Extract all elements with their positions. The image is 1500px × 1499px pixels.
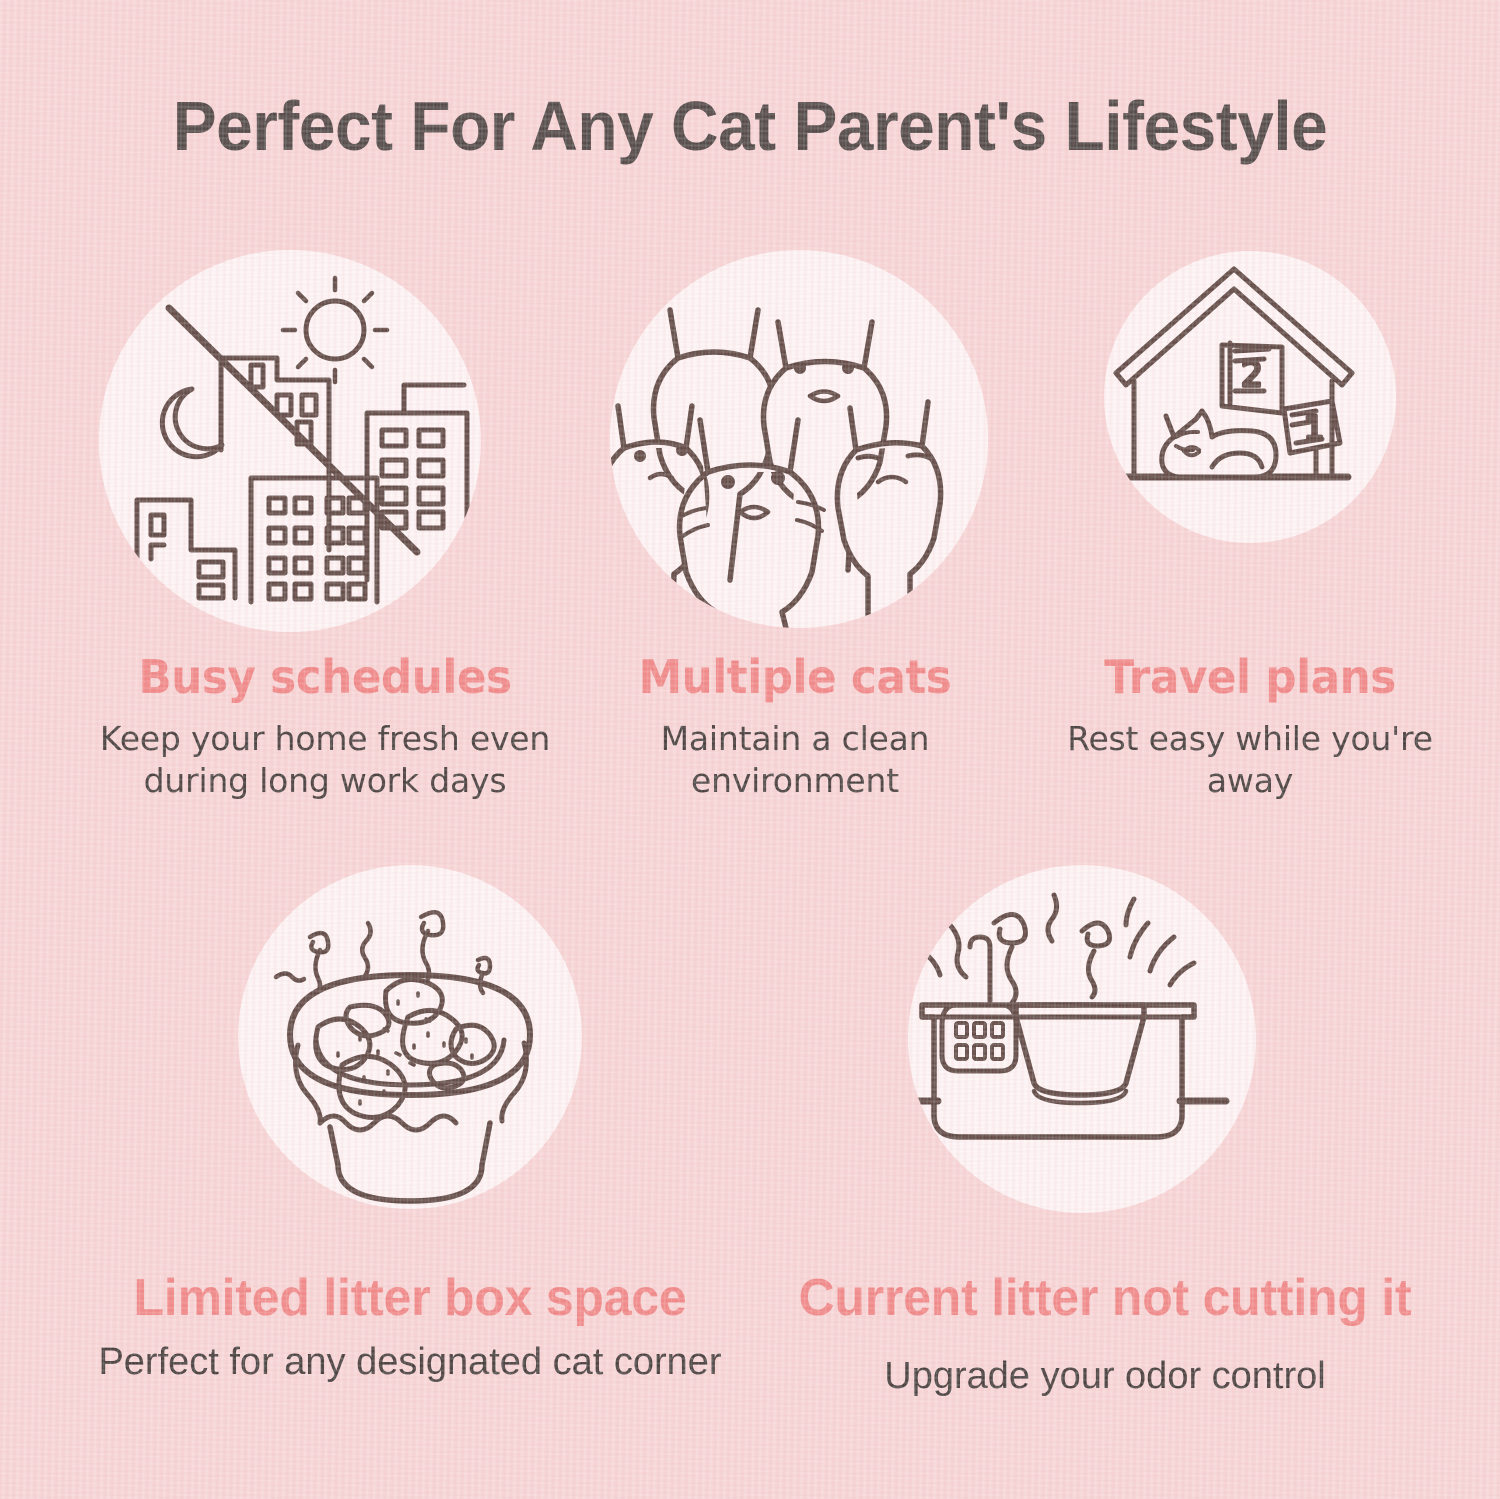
overflowing-litter-bowl-icon	[238, 865, 582, 1209]
feature-heading-2: Multiple cats	[586, 650, 1004, 704]
feature-heading-4: Limited litter box space	[74, 1268, 746, 1328]
feature-icon-circle-2	[610, 250, 988, 628]
litter-box-scoop-odor-icon	[908, 865, 1256, 1213]
feature-heading-5: Current litter not cutting it	[769, 1268, 1441, 1328]
page-title: Perfect For Any Cat Parent's Lifestyle	[45, 86, 1455, 166]
feature-heading-3: Travel plans	[1060, 650, 1440, 704]
city-day-night-icon	[99, 250, 481, 632]
house-cat-calendar-icon: 2 1	[1104, 251, 1396, 543]
infographic-page: Perfect For Any Cat Parent's Lifestyle	[0, 0, 1500, 1499]
feature-icon-circle-1	[99, 250, 481, 632]
feature-description-2: Maintain a clean environment	[575, 718, 1015, 802]
feature-description-1: Keep your home fresh even during long wo…	[45, 718, 605, 802]
feature-icon-circle-4	[238, 865, 582, 1209]
calendar-number-2: 2	[1241, 355, 1263, 395]
feature-description-3: Rest easy while you're away	[1050, 718, 1450, 802]
feature-heading-1: Busy schedules	[59, 650, 591, 704]
feature-icon-circle-5	[908, 865, 1256, 1213]
feature-description-4: Perfect for any designated cat corner	[60, 1338, 760, 1387]
feature-description-5: Upgrade your odor control	[755, 1352, 1455, 1401]
multiple-cats-icon	[610, 250, 988, 628]
calendar-number-1: 1	[1304, 409, 1324, 447]
feature-icon-circle-3: 2 1	[1104, 251, 1396, 543]
